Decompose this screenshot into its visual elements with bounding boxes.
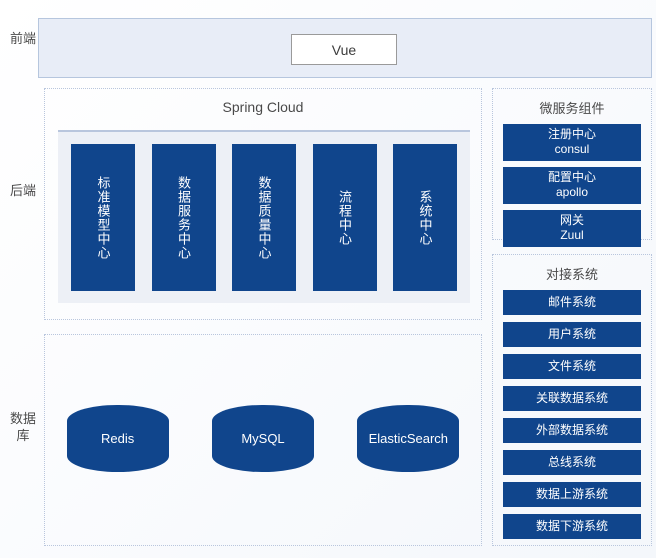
integration-panel-items: 邮件系统 用户系统 文件系统 关联数据系统 外部数据系统 总线系统 数据上游系统… [493,290,651,546]
integration-item-external-data-system[interactable]: 外部数据系统 [503,418,641,443]
database-cylinder-elasticsearch[interactable]: ElasticSearch [357,405,459,472]
frontend-band: Vue [38,18,652,78]
database-cylinder-label: ElasticSearch [369,431,448,446]
service-box-standard-model-center[interactable]: 标准模型中心 [71,144,135,291]
database-cylinder-label: MySQL [241,431,284,446]
microservice-panel-title: 微服务组件 [493,98,651,117]
service-box-system-center[interactable]: 系统中心 [393,144,457,291]
microservice-item-config[interactable]: 配置中心 apollo [503,167,641,204]
service-box-label: 流程中心 [336,190,353,246]
microservice-item-gateway[interactable]: 网关 Zuul [503,210,641,247]
database-store-row: Redis MySQL ElasticSearch [45,405,481,472]
database-cylinder-mysql[interactable]: MySQL [212,405,314,472]
database-cylinder-label: Redis [101,431,134,446]
microservice-item-line1: 网关 [560,213,584,227]
microservice-item-line2: Zuul [503,228,641,243]
service-box-label: 数据质量中心 [256,176,273,260]
integration-panel-title: 对接系统 [493,264,651,283]
architecture-diagram: 前端 后端 数据库 Vue Spring Cloud 标准模型中心 数据服务中心… [0,0,656,558]
microservice-item-line2: consul [503,142,641,157]
service-box-label: 标准模型中心 [95,176,112,260]
row-label-database: 数据库 [8,410,38,444]
service-box-row: 标准模型中心 数据服务中心 数据质量中心 流程中心 系统中心 [71,144,457,291]
service-box-process-center[interactable]: 流程中心 [313,144,377,291]
integration-item-user-system[interactable]: 用户系统 [503,322,641,347]
spring-cloud-title: Spring Cloud [45,99,481,115]
integration-item-related-data-system[interactable]: 关联数据系统 [503,386,641,411]
service-box-data-quality-center[interactable]: 数据质量中心 [232,144,296,291]
microservice-components-panel: 微服务组件 注册中心 consul 配置中心 apollo 网关 Zuul [492,88,652,240]
integration-item-file-system[interactable]: 文件系统 [503,354,641,379]
microservice-item-line1: 配置中心 [548,170,596,184]
service-box-label: 数据服务中心 [175,176,192,260]
integration-item-mail-system[interactable]: 邮件系统 [503,290,641,315]
microservice-item-line1: 注册中心 [548,127,596,141]
microservice-item-line2: apollo [503,185,641,200]
vue-box[interactable]: Vue [291,34,397,65]
microservice-item-registry[interactable]: 注册中心 consul [503,124,641,161]
row-label-backend: 后端 [8,182,38,199]
spring-cloud-inner-container: 标准模型中心 数据服务中心 数据质量中心 流程中心 系统中心 [58,130,470,303]
integration-item-upstream-data-system[interactable]: 数据上游系统 [503,482,641,507]
integration-systems-panel: 对接系统 邮件系统 用户系统 文件系统 关联数据系统 外部数据系统 总线系统 数… [492,254,652,546]
row-label-frontend: 前端 [8,30,38,47]
integration-item-downstream-data-system[interactable]: 数据下游系统 [503,514,641,539]
service-box-data-service-center[interactable]: 数据服务中心 [152,144,216,291]
microservice-panel-items: 注册中心 consul 配置中心 apollo 网关 Zuul [493,124,651,253]
database-cylinder-redis[interactable]: Redis [67,405,169,472]
service-box-label: 系统中心 [417,190,434,246]
integration-item-bus-system[interactable]: 总线系统 [503,450,641,475]
database-panel: Redis MySQL ElasticSearch [44,334,482,546]
spring-cloud-panel: Spring Cloud 标准模型中心 数据服务中心 数据质量中心 流程中心 系… [44,88,482,320]
